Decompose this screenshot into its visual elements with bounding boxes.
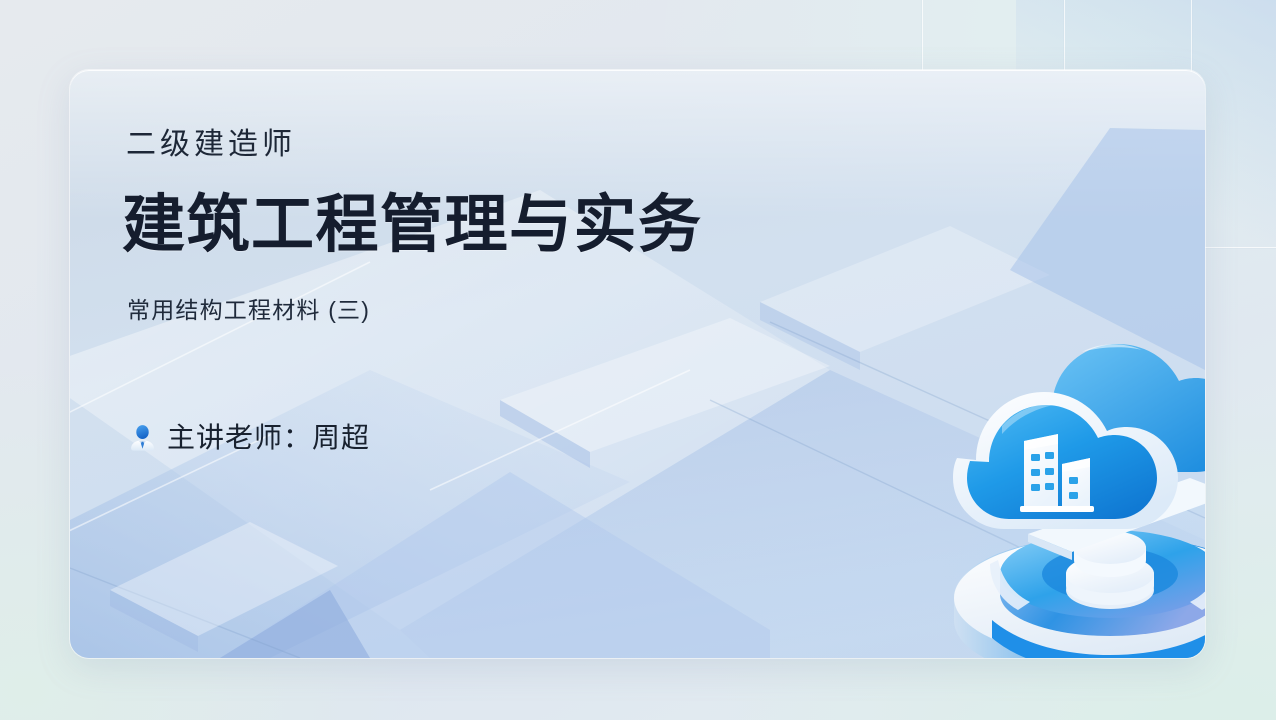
page-title: 建筑工程管理与实务 (122, 194, 862, 257)
cloud-building-3d-icon (932, 298, 1205, 658)
course-level-eyebrow: 二级建造师 (126, 130, 862, 160)
slide-text-block: 二级建造师 建筑工程管理与实务 常用结构工程材料 (三) (122, 130, 862, 453)
person-avatar-icon (127, 422, 158, 453)
lesson-subtitle: 常用结构工程材料 (三) (127, 299, 862, 322)
slide-stage: 二级建造师 建筑工程管理与实务 常用结构工程材料 (三) (0, 0, 1276, 720)
instructor-name-label: 主讲老师：周超 (167, 424, 370, 452)
instructor-row: 主讲老师：周超 (127, 422, 862, 453)
title-card: 二级建造师 建筑工程管理与实务 常用结构工程材料 (三) (70, 70, 1205, 658)
